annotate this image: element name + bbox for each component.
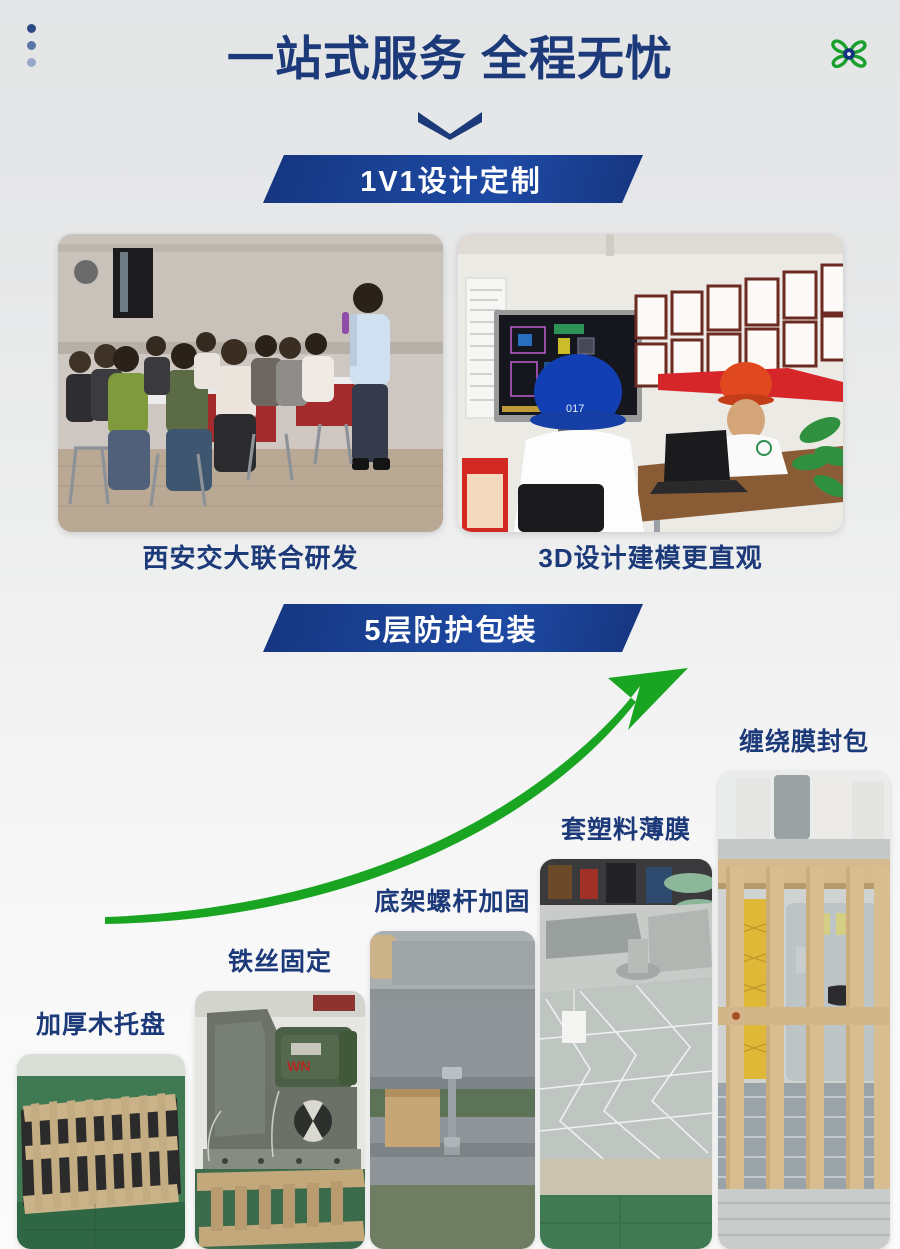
machine-wired-on-pallet-photo: WN — [195, 991, 365, 1249]
chevron-down-icon — [0, 108, 900, 140]
step-label-4: 套塑料薄膜 — [561, 810, 691, 846]
banner-1v1-label: 1V1设计定制 — [360, 158, 542, 200]
svg-text:017: 017 — [566, 403, 584, 415]
caption-training: 西安交大联合研发 — [58, 538, 443, 575]
svg-text:WN: WN — [287, 1058, 310, 1074]
step-label-1: 加厚木托盘 — [36, 1005, 166, 1041]
banner-packaging-label: 5层防护包装 — [364, 607, 537, 649]
base-frame-bolt-photo — [370, 931, 535, 1249]
banner-5-layer-packaging: 5层防护包装 — [263, 604, 643, 652]
caption-3d-design: 3D设计建模更直观 — [458, 538, 843, 575]
banner-1v1-design: 1V1设计定制 — [263, 155, 643, 203]
step-label-2: 铁丝固定 — [228, 942, 332, 978]
page-title: 一站式服务 全程无忧 — [0, 32, 900, 86]
step-label-3: 底架螺杆加固 — [374, 882, 530, 918]
step-label-5: 缠绕膜封包 — [739, 722, 869, 758]
wooden-pallet-photo — [17, 1054, 185, 1249]
packaging-steps: 加厚木托盘 — [0, 660, 900, 1249]
plastic-film-wrapped-photo — [540, 859, 712, 1249]
design-caption-row: 西安交大联合研发 3D设计建模更直观 — [0, 538, 900, 578]
training-seminar-photo — [58, 234, 443, 532]
design-photo-row: 017 — [0, 234, 900, 534]
wooden-crate-sealed-photo — [718, 771, 890, 1249]
3d-design-office-photo: 017 — [458, 234, 843, 532]
